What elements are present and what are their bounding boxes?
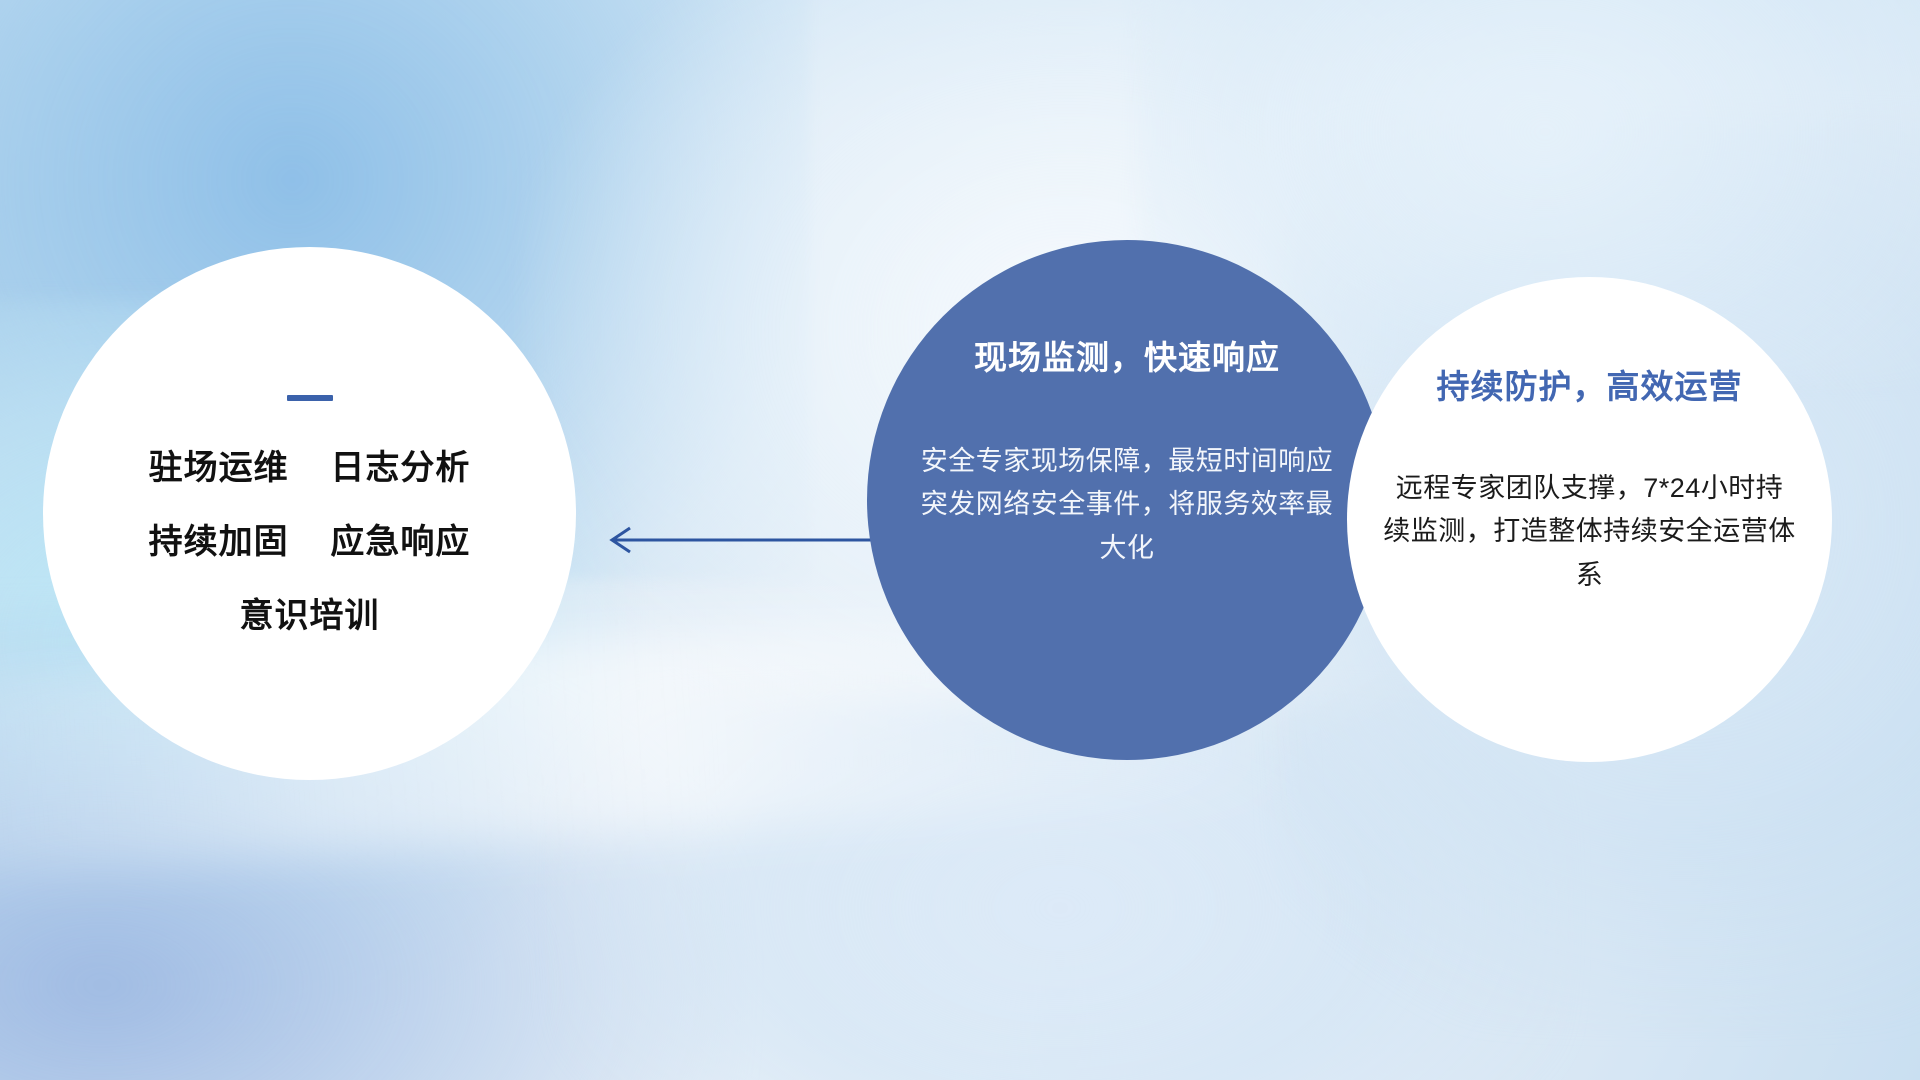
right-circle-content: 持续防护，高效运营 远程专家团队支撑，7*24小时持续监测，打造整体持续安全运营… — [1347, 367, 1832, 598]
middle-circle-content: 现场监测，快速响应 安全专家现场保障，最短时间响应突发网络安全事件，将服务效率最… — [867, 338, 1387, 571]
slide-canvas: 驻场运维 日志分析 持续加固 应急响应 意识培训 现场监测，快速响应 安全专家现… — [0, 0, 1920, 1080]
middle-circle-body: 安全专家现场保障，最短时间响应突发网络安全事件，将服务效率最大化 — [915, 440, 1339, 571]
horizontal-dash-icon — [287, 395, 333, 401]
middle-circle-card[interactable]: 现场监测，快速响应 安全专家现场保障，最短时间响应突发网络安全事件，将服务效率最… — [867, 240, 1387, 760]
left-circle-row-1: 驻场运维 日志分析 — [43, 451, 576, 485]
left-circle-row-2: 持续加固 应急响应 — [43, 525, 576, 559]
left-circle-card[interactable]: 驻场运维 日志分析 持续加固 应急响应 意识培训 — [43, 247, 576, 780]
left-circle-content: 驻场运维 日志分析 持续加固 应急响应 意识培训 — [43, 395, 576, 633]
arrow-left-icon — [600, 520, 900, 560]
left-circle-row-3: 意识培训 — [43, 599, 576, 633]
right-circle-title: 持续防护，高效运营 — [1383, 367, 1796, 407]
right-circle-card[interactable]: 持续防护，高效运营 远程专家团队支撑，7*24小时持续监测，打造整体持续安全运营… — [1347, 277, 1832, 762]
right-circle-body: 远程专家团队支撑，7*24小时持续监测，打造整体持续安全运营体系 — [1383, 467, 1796, 598]
middle-circle-title: 现场监测，快速响应 — [915, 338, 1339, 378]
